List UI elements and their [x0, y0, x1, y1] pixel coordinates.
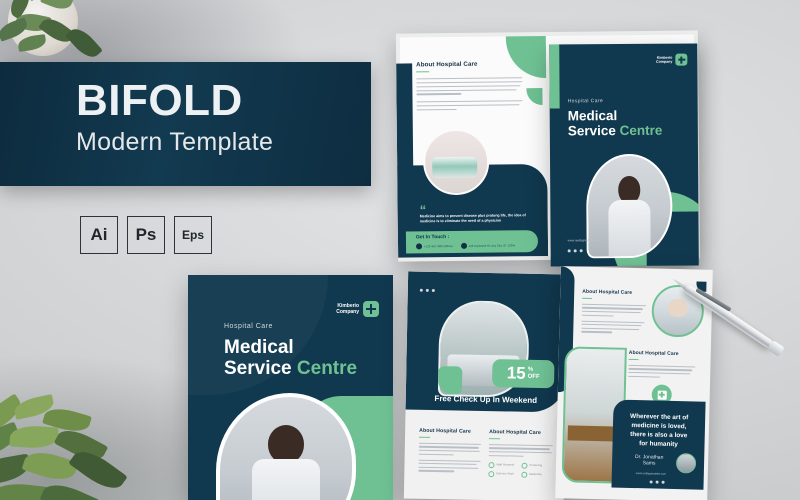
- center-column-2: About Hospital Care High Respond Protect…: [488, 429, 553, 478]
- contact-phone-text: +123 456 7890 (Office): [424, 245, 453, 248]
- cover-eyebrow: Hospital Care: [568, 98, 604, 104]
- brand-name2-line2: Company: [336, 309, 359, 315]
- green-accent-shape: [526, 88, 542, 105]
- right-col-text-2: About Hospital Care: [628, 350, 699, 378]
- check-icon: [488, 471, 494, 477]
- cover-title-1: Medical: [568, 108, 663, 124]
- quote-text: Medicine aims to prevent disease plus pr…: [420, 214, 532, 225]
- cover-website: www.reallygreatsite.com: [568, 238, 600, 242]
- medical-cross-leaf-icon-2: [363, 301, 379, 317]
- heading-rule: [416, 71, 429, 73]
- green-tab-shape: [438, 366, 463, 394]
- bottom-spread-center: 15 % OFF Free Check Up In Weekend About …: [404, 271, 568, 500]
- feature-item: Marketing: [521, 471, 552, 478]
- feature-list: High Respond Protecting Extreme Work Mar…: [488, 462, 552, 478]
- format-badges: Ai Ps Eps: [80, 216, 212, 254]
- discount-label: OFF: [528, 374, 540, 381]
- col1-body-1: [419, 443, 481, 456]
- right-heading-1: About Hospital Care: [582, 289, 646, 297]
- contact-address[interactable]: 123 Anywhere St, Any City, ST 12345: [461, 242, 516, 249]
- feature-item: High Respond: [488, 462, 519, 469]
- bottom-cover-title-1: Medical: [224, 337, 357, 358]
- top-spread-left-page: About Hospital Care: [400, 36, 548, 258]
- potted-plant-decor: [0, 0, 118, 90]
- hospital-room-photo: [423, 129, 490, 196]
- feature-item: Protecting: [521, 462, 552, 469]
- quote-author: Dr. Jonathan Sams: [626, 454, 672, 468]
- bottom-cover: Kimberio Company Hospital Care Medical S…: [188, 275, 393, 500]
- about-body-2: [417, 100, 523, 110]
- doctor-avatar: [676, 453, 696, 473]
- col2-body-1: [489, 444, 553, 457]
- page-subtitle: Modern Template: [76, 129, 273, 156]
- center-dots: [420, 289, 435, 292]
- right-heading-2: About Hospital Care: [629, 350, 699, 358]
- cta-heading: Get In Touch :: [416, 234, 449, 240]
- cover-title-2: Service Centre: [568, 123, 663, 139]
- right-website: www.reallygreatsite.com: [636, 471, 666, 476]
- right-body-1: [582, 304, 646, 317]
- mockup-scene: About Hospital Care: [0, 0, 800, 500]
- contact-phone[interactable]: +123 456 7890 (Office): [416, 243, 453, 249]
- ai-badge[interactable]: Ai: [80, 216, 118, 254]
- about-heading: About Hospital Care: [416, 60, 522, 68]
- right-body-3: [628, 365, 698, 379]
- col2-heading: About Hospital Care: [489, 429, 553, 436]
- contact-address-text: 123 Anywhere St, Any City, ST 12345: [469, 244, 516, 247]
- feature-item: Extreme Work: [488, 471, 519, 478]
- check-icon: [488, 462, 494, 468]
- ps-badge[interactable]: Ps: [127, 216, 165, 254]
- get-in-touch-band: Get In Touch : +123 456 7890 (Office) 12…: [406, 230, 538, 253]
- right-body-2: [581, 320, 645, 333]
- col1-body-2: [418, 459, 480, 472]
- quote-lines: Wherever the art of medicine is loved, t…: [618, 412, 699, 450]
- quote-card: Wherever the art of medicine is loved, t…: [611, 400, 705, 490]
- medical-cross-leaf-icon: [675, 54, 687, 66]
- doctor-portrait-photo: [586, 154, 673, 259]
- brand-logo[interactable]: Kimberio Company: [656, 54, 687, 66]
- col1-heading: About Hospital Care: [419, 428, 481, 435]
- cover-green-edge: [549, 44, 559, 108]
- bottom-cover-title-2: Service Centre: [224, 358, 357, 379]
- phone-icon: [416, 243, 422, 249]
- about-body-1: [416, 77, 522, 95]
- brand-name-line2: Company: [656, 60, 672, 65]
- location-icon: [461, 243, 467, 249]
- top-cover: Kimberio Company Hospital Care Medical S…: [549, 43, 699, 266]
- brand-logo-2[interactable]: Kimberio Company: [336, 301, 379, 317]
- bottom-cover-eyebrow: Hospital Care: [224, 323, 273, 330]
- right-col-text-1: About Hospital Care: [581, 289, 646, 334]
- check-icon: [521, 462, 527, 468]
- foliage-decor: [0, 396, 170, 500]
- discount-value: 15: [507, 363, 526, 383]
- center-column-1: About Hospital Care: [418, 428, 481, 473]
- check-icon: [521, 471, 527, 477]
- bottom-spread-right: About Hospital Care About Hospital Care: [555, 266, 713, 500]
- cover-dots: [568, 249, 583, 252]
- discount-badge: 15 % OFF: [492, 359, 555, 388]
- right-dots: [650, 480, 665, 483]
- eps-badge[interactable]: Eps: [174, 216, 212, 254]
